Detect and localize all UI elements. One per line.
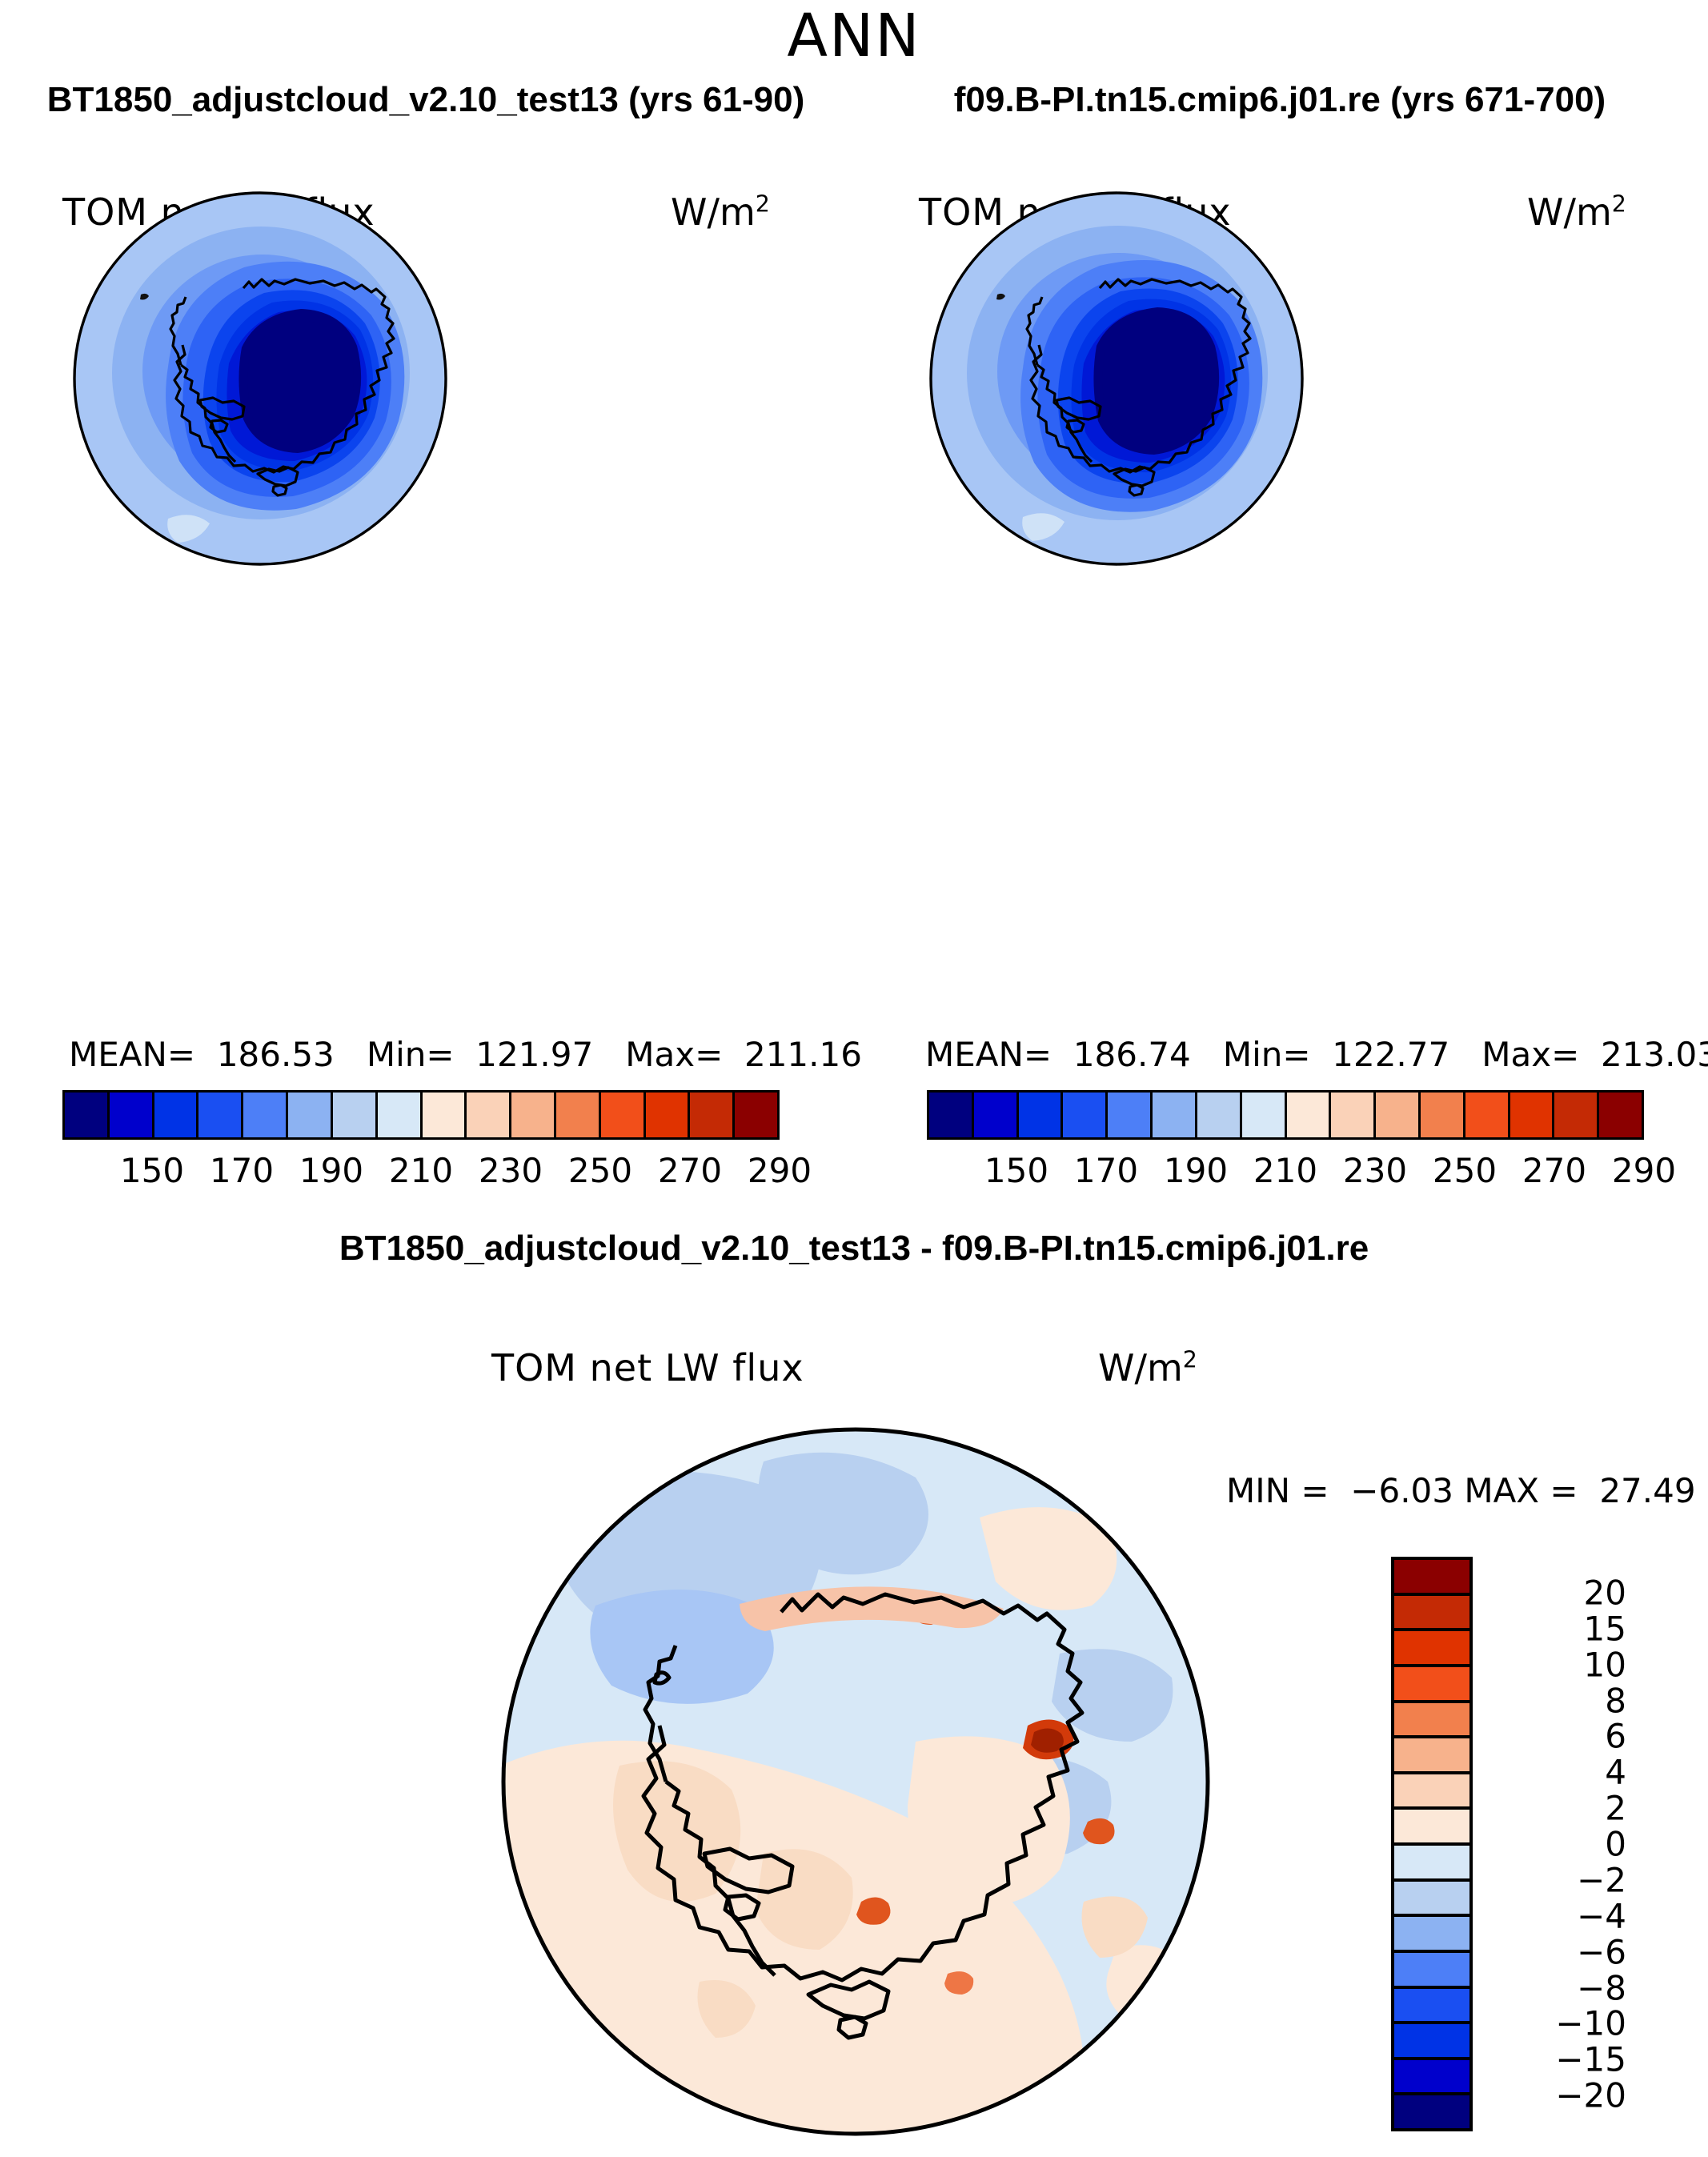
- diff-unit-base: W/m: [1098, 1346, 1183, 1389]
- right-unit-exponent: 2: [1612, 191, 1626, 218]
- tick-label: 15: [1584, 1609, 1626, 1648]
- colorbar-cell: [556, 1093, 601, 1137]
- colorbar-cell: [154, 1093, 199, 1137]
- colorbar-cell: [1063, 1093, 1108, 1137]
- colorbar-cell: [378, 1093, 423, 1137]
- tick-label: 270: [658, 1151, 722, 1190]
- tick-label: −20: [1555, 2076, 1626, 2115]
- colorbar-cell: [1465, 1093, 1510, 1137]
- tick-label: 4: [1605, 1753, 1626, 1792]
- colorbar-cell: [467, 1093, 511, 1137]
- colorbar-cell: [1394, 1703, 1469, 1739]
- colorbar-cell: [333, 1093, 378, 1137]
- colorbar-cell: [1394, 1882, 1469, 1918]
- diff-variable-label: TOM net LW flux: [491, 1346, 804, 1389]
- left-unit-base: W/m: [671, 190, 756, 234]
- colorbar-cell: [735, 1093, 777, 1137]
- right-stats: MEAN= 186.74 Min= 122.77 Max= 213.03: [925, 1035, 1708, 1074]
- tick-label: 20: [1584, 1573, 1626, 1612]
- colorbar-cell: [690, 1093, 735, 1137]
- colorbar-cell: [288, 1093, 333, 1137]
- colorbar-cell: [1394, 1810, 1469, 1846]
- colorbar-cell: [511, 1093, 556, 1137]
- tick-label: 0: [1605, 1825, 1626, 1864]
- colorbar-cell: [646, 1093, 691, 1137]
- map-left[interactable]: [72, 166, 448, 591]
- colorbar-cell: [65, 1093, 110, 1137]
- tick-label: 170: [1074, 1151, 1138, 1190]
- colorbar-cell: [1394, 1846, 1469, 1882]
- colorbar-cell: [1554, 1093, 1599, 1137]
- tick-label: −10: [1555, 2004, 1626, 2043]
- colorbar-cell: [1287, 1093, 1332, 1137]
- colorbar-cell: [1394, 1560, 1469, 1596]
- colorbar-cell: [1394, 1917, 1469, 1953]
- map-diff-fills: [499, 1421, 1212, 2142]
- colorbar-cell: [1331, 1093, 1376, 1137]
- tick-label: 190: [299, 1151, 363, 1190]
- colorbar-cell: [198, 1093, 243, 1137]
- tick-label: −2: [1577, 1860, 1626, 1899]
- colorbar-cell: [1108, 1093, 1153, 1137]
- colorbar-cell: [1394, 1738, 1469, 1774]
- diff-case-title: BT1850_adjustcloud_v2.10_test13 - f09.B-…: [0, 1229, 1708, 1269]
- colorbar-cell: [1394, 1774, 1469, 1810]
- case-title-right: f09.B-PI.tn15.cmip6.j01.re (yrs 671-700): [852, 80, 1708, 120]
- tick-label: 170: [210, 1151, 274, 1190]
- colorbar-cell: [1197, 1093, 1242, 1137]
- left-stats: MEAN= 186.53 Min= 121.97 Max= 211.16: [69, 1035, 862, 1074]
- map-left-fills: [72, 166, 448, 591]
- tick-label: 2: [1605, 1789, 1626, 1828]
- colorbar-left-cells: [62, 1090, 780, 1140]
- tick-label: 8: [1605, 1681, 1626, 1720]
- colorbar-cell: [423, 1093, 467, 1137]
- colorbar-cell: [1394, 1989, 1469, 2025]
- tick-label: 10: [1584, 1645, 1626, 1684]
- map-diff-svg: [499, 1421, 1212, 2142]
- tick-label: 6: [1605, 1717, 1626, 1756]
- tick-label: 210: [1253, 1151, 1317, 1190]
- map-right-fills: [928, 166, 1305, 591]
- colorbar-right-cells: [927, 1090, 1644, 1140]
- tick-label: −4: [1577, 1896, 1626, 1935]
- tick-label: 150: [120, 1151, 184, 1190]
- map-right-svg: [928, 166, 1305, 591]
- colorbar-cell: [1394, 1667, 1469, 1703]
- diff-unit-label: W/m2: [1098, 1346, 1197, 1389]
- colorbar-cell: [1394, 1596, 1469, 1632]
- left-unit-label: W/m2: [671, 190, 770, 234]
- colorbar-cell: [1394, 2024, 1469, 2060]
- colorbar-cell: [1599, 1093, 1642, 1137]
- colorbar-cell: [1376, 1093, 1421, 1137]
- colorbar-cell: [1019, 1093, 1064, 1137]
- right-unit-base: W/m: [1527, 190, 1612, 234]
- tick-label: 250: [568, 1151, 632, 1190]
- tick-label: −15: [1555, 2040, 1626, 2079]
- colorbar-diff-ticks: 20 15 10 8 6 4 2 0 −2 −4 −6 −8 −10 −15 −…: [1490, 1557, 1626, 2131]
- colorbar-cell: [243, 1093, 288, 1137]
- colorbar-cell: [1394, 1953, 1469, 1989]
- colorbar-diff-cells: [1391, 1557, 1473, 2131]
- diff-minmax: MIN = −6.03 MAX = 27.49: [1226, 1471, 1696, 1510]
- tick-label: 250: [1433, 1151, 1497, 1190]
- diff-unit-exponent: 2: [1183, 1347, 1197, 1373]
- left-unit-exponent: 2: [756, 191, 770, 218]
- colorbar-cell: [974, 1093, 1019, 1137]
- tick-label: 230: [1343, 1151, 1407, 1190]
- tick-label: 210: [389, 1151, 453, 1190]
- colorbar-cell: [1153, 1093, 1197, 1137]
- colorbar-cell: [1510, 1093, 1555, 1137]
- tick-label: −6: [1577, 1932, 1626, 1971]
- tick-label: 190: [1164, 1151, 1228, 1190]
- right-unit-label: W/m2: [1527, 190, 1626, 234]
- colorbar-right-ticks: 150 170 190 210 230 250 270 290: [927, 1151, 1644, 1199]
- colorbar-cell: [929, 1093, 974, 1137]
- colorbar-cell: [601, 1093, 646, 1137]
- tick-label: 270: [1522, 1151, 1586, 1190]
- colorbar-cell: [1394, 2095, 1469, 2128]
- colorbar-cell: [110, 1093, 154, 1137]
- map-left-svg: [72, 166, 448, 591]
- colorbar-left[interactable]: 150 170 190 210 230 250 270 290: [62, 1090, 780, 1199]
- map-diff[interactable]: [499, 1421, 1212, 2142]
- season-title: ANN: [0, 2, 1708, 70]
- colorbar-cell: [1242, 1093, 1287, 1137]
- colorbar-cell: [1421, 1093, 1465, 1137]
- tick-label: 150: [984, 1151, 1048, 1190]
- colorbar-right[interactable]: 150 170 190 210 230 250 270 290: [927, 1090, 1644, 1199]
- case-title-left: BT1850_adjustcloud_v2.10_test13 (yrs 61-…: [0, 80, 852, 120]
- tick-label: 290: [748, 1151, 812, 1190]
- colorbar-diff[interactable]: 20 15 10 8 6 4 2 0 −2 −4 −6 −8 −10 −15 −…: [1391, 1557, 1626, 2131]
- map-right[interactable]: [928, 166, 1305, 591]
- colorbar-cell: [1394, 1631, 1469, 1667]
- tick-label: −8: [1577, 1968, 1626, 2007]
- tick-label: 290: [1612, 1151, 1676, 1190]
- colorbar-cell: [1394, 2060, 1469, 2096]
- tick-label: 230: [479, 1151, 543, 1190]
- colorbar-left-ticks: 150 170 190 210 230 250 270 290: [62, 1151, 780, 1199]
